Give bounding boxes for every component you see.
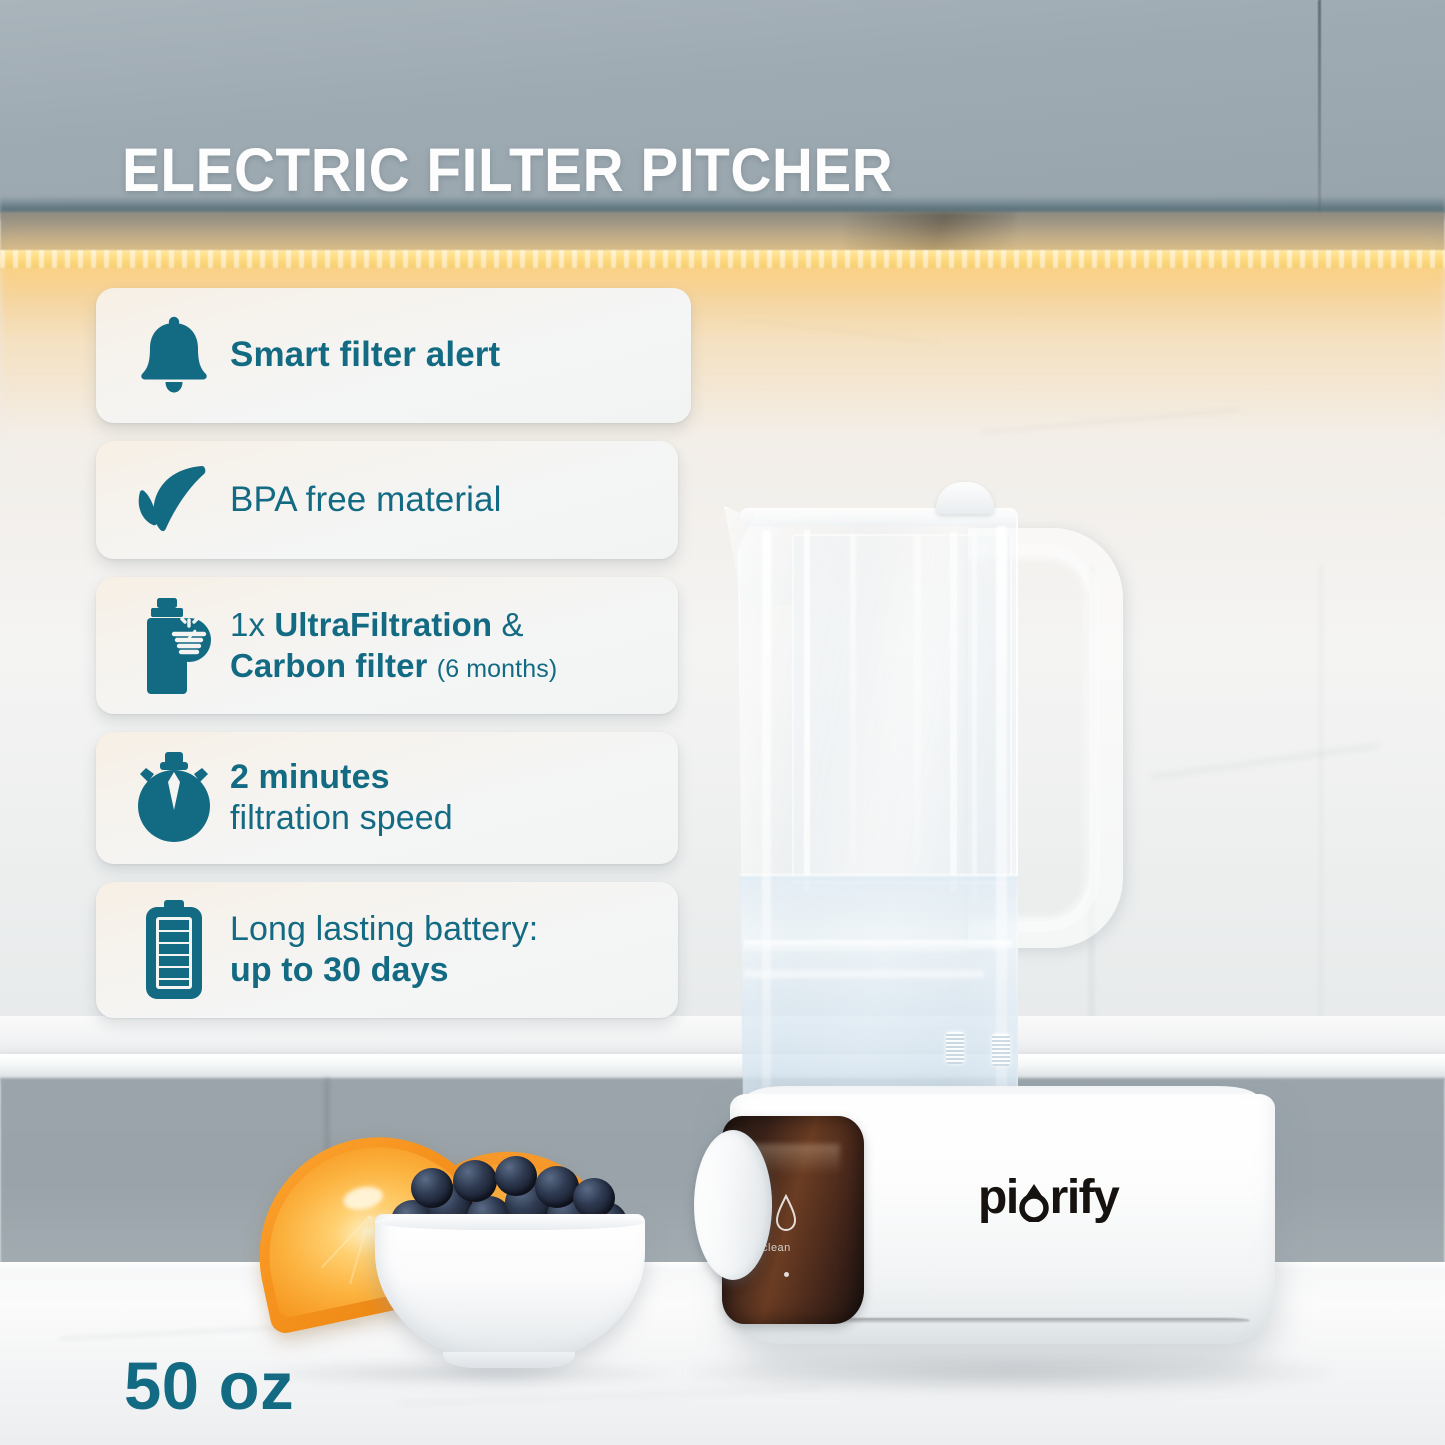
blueberry xyxy=(495,1156,537,1196)
page-title: ELECTRIC FILTER PITCHER xyxy=(122,140,1052,201)
battery-icon xyxy=(118,882,230,1018)
filter-type-ultra: UltraFiltration xyxy=(274,606,492,643)
brand-logo-left: pi xyxy=(978,1171,1018,1224)
feature-card-bpa-free[interactable]: BPA free material xyxy=(96,441,678,559)
filter-fitting xyxy=(992,1034,1010,1066)
battery-label: Long lasting battery: xyxy=(230,910,538,948)
filtration-time: 2 minutes xyxy=(230,758,390,796)
bowl-rim xyxy=(375,1214,645,1230)
brand-logo: pirify xyxy=(978,1170,1118,1225)
status-led xyxy=(784,1272,789,1277)
filter-cartridge-icon xyxy=(118,577,230,714)
brand-drop-icon xyxy=(1018,1184,1050,1218)
filter-reservoir xyxy=(792,534,1012,884)
pitcher-highlight xyxy=(762,530,771,1090)
feature-card-filters[interactable]: 1x UltraFiltration & Carbon filter (6 mo… xyxy=(96,577,678,714)
blueberry xyxy=(573,1178,615,1218)
water-drop-icon xyxy=(774,1194,798,1239)
filter-duration-note: (6 months) xyxy=(437,655,557,683)
bell-icon xyxy=(118,288,230,423)
filter-conjunction: & xyxy=(492,606,523,643)
product-marketing-image: ELECTRIC FILTER PITCHER Smart filter ale… xyxy=(0,0,1445,1445)
feature-card-battery[interactable]: Long lasting battery: up to 30 days xyxy=(96,882,678,1018)
filter-fitting xyxy=(946,1032,964,1064)
water-reflection xyxy=(744,970,984,978)
electric-filter-pitcher: clean pirify xyxy=(700,470,1400,1390)
pitcher-highlight xyxy=(914,534,921,864)
blueberry xyxy=(453,1160,497,1202)
blueberry xyxy=(411,1168,453,1208)
feature-card-filtration-speed[interactable]: 2 minutes filtration speed xyxy=(96,732,678,864)
reservoir-wall xyxy=(804,530,810,890)
feature-card-label: BPA free material xyxy=(230,479,660,522)
power-knob[interactable] xyxy=(694,1130,772,1280)
feature-card-label: 2 minutes filtration speed xyxy=(230,757,660,840)
filtered-water xyxy=(740,878,1018,1100)
bowl-foot xyxy=(443,1352,575,1368)
feature-card-label: Long lasting battery: up to 30 days xyxy=(230,909,660,992)
cabinet-seam xyxy=(1318,0,1321,213)
stopwatch-icon xyxy=(118,732,230,864)
under-cabinet-seam xyxy=(845,212,1015,252)
battery-duration: up to 30 days xyxy=(230,951,449,989)
white-bowl xyxy=(375,1214,645,1364)
reservoir-wall xyxy=(972,532,977,902)
reservoir-wall xyxy=(950,532,957,892)
feature-card-label: 1x UltraFiltration & Carbon filter (6 mo… xyxy=(230,605,660,686)
under-cabinet-led-strip xyxy=(0,250,1445,268)
water-reflection xyxy=(744,940,1012,952)
filter-fittings xyxy=(946,1032,1036,1066)
feature-list: Smart filter alert BPA free material xyxy=(96,288,696,1036)
filter-count: 1x xyxy=(230,606,274,643)
lid-vent-nub xyxy=(936,482,994,514)
feature-card-smart-filter-alert[interactable]: Smart filter alert xyxy=(96,288,691,423)
brand-logo-right: rify xyxy=(1050,1171,1119,1224)
filtration-speed-label: filtration speed xyxy=(230,799,453,837)
fruit-arrangement xyxy=(235,1130,695,1390)
leaf-icon xyxy=(118,441,230,559)
pitcher-highlight xyxy=(850,534,856,864)
pitcher-highlight xyxy=(996,526,1007,1106)
filter-type-carbon: Carbon filter xyxy=(230,647,427,684)
feature-card-label: Smart filter alert xyxy=(230,334,673,377)
